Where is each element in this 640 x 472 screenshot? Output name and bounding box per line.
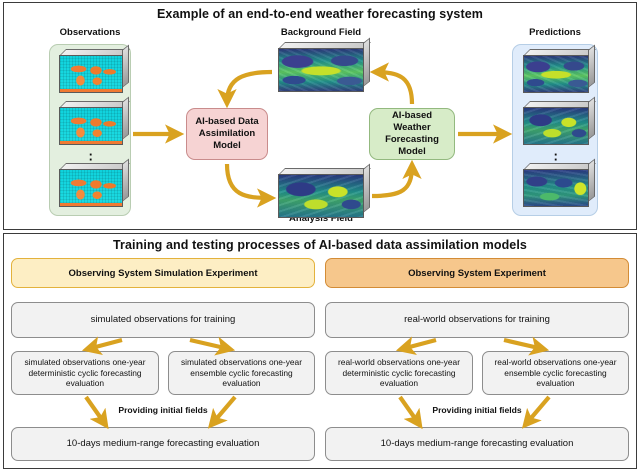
top-panel-title: Example of an end-to-end weather forecas… xyxy=(4,7,636,21)
osse-final-evaluation-box[interactable]: 10-days medium-range forecasting evaluat… xyxy=(11,427,315,461)
predictions-label: Predictions xyxy=(506,27,604,38)
osse-ensemble-label: simulated observations one-year ensemble… xyxy=(172,357,311,390)
observations-stack: · · · xyxy=(49,44,131,216)
prediction-map-2 xyxy=(523,107,589,145)
ai-data-assimilation-model-label: AI-based Data Assimilation Model xyxy=(191,116,263,152)
bottom-panel-title: Training and testing processes of AI-bas… xyxy=(4,238,636,252)
ai-weather-forecasting-model-box[interactable]: AI-based Weather Forecasting Model xyxy=(369,108,455,160)
ose-final-evaluation-box[interactable]: 10-days medium-range forecasting evaluat… xyxy=(325,427,629,461)
observation-map-1 xyxy=(59,55,123,93)
ose-header[interactable]: Observing System Experiment xyxy=(325,258,629,288)
predictions-stack: · · · xyxy=(512,44,598,216)
ose-ensemble-box[interactable]: real-world observations one-year ensembl… xyxy=(482,351,629,395)
osse-header[interactable]: Observing System Simulation Experiment xyxy=(11,258,315,288)
ose-ensemble-label: real-world observations one-year ensembl… xyxy=(486,357,625,390)
observation-map-3 xyxy=(59,169,123,207)
ose-deterministic-box[interactable]: real-world observations one-year determi… xyxy=(325,351,473,395)
osse-training-box[interactable]: simulated observations for training xyxy=(11,302,315,338)
prediction-map-3 xyxy=(523,169,589,207)
ose-providing-initial-fields-label: Providing initial fields xyxy=(374,405,580,415)
osse-deterministic-box[interactable]: simulated observations one-year determin… xyxy=(11,351,159,395)
osse-header-label: Observing System Simulation Experiment xyxy=(69,268,258,279)
observation-map-2 xyxy=(59,107,123,145)
background-field-map xyxy=(278,48,364,92)
ai-weather-forecasting-model-label: AI-based Weather Forecasting Model xyxy=(374,110,450,159)
ose-final-evaluation-label: 10-days medium-range forecasting evaluat… xyxy=(381,438,574,450)
ose-header-label: Observing System Experiment xyxy=(408,268,546,279)
osse-ensemble-box[interactable]: simulated observations one-year ensemble… xyxy=(168,351,315,395)
ai-data-assimilation-model-box[interactable]: AI-based Data Assimilation Model xyxy=(186,108,268,160)
analysis-field-map xyxy=(278,174,364,218)
background-field-label: Background Field xyxy=(262,27,380,38)
osse-providing-initial-fields-label: Providing initial fields xyxy=(60,405,266,415)
osse-training-label: simulated observations for training xyxy=(91,314,236,326)
prediction-map-1 xyxy=(523,55,589,93)
figure-root: Example of an end-to-end weather forecas… xyxy=(0,0,640,472)
ose-training-box[interactable]: real-world observations for training xyxy=(325,302,629,338)
osse-final-evaluation-label: 10-days medium-range forecasting evaluat… xyxy=(67,438,260,450)
ose-training-label: real-world observations for training xyxy=(404,314,550,326)
observations-label: Observations xyxy=(44,27,136,38)
osse-deterministic-label: simulated observations one-year determin… xyxy=(15,357,155,390)
ose-deterministic-label: real-world observations one-year determi… xyxy=(329,357,469,390)
